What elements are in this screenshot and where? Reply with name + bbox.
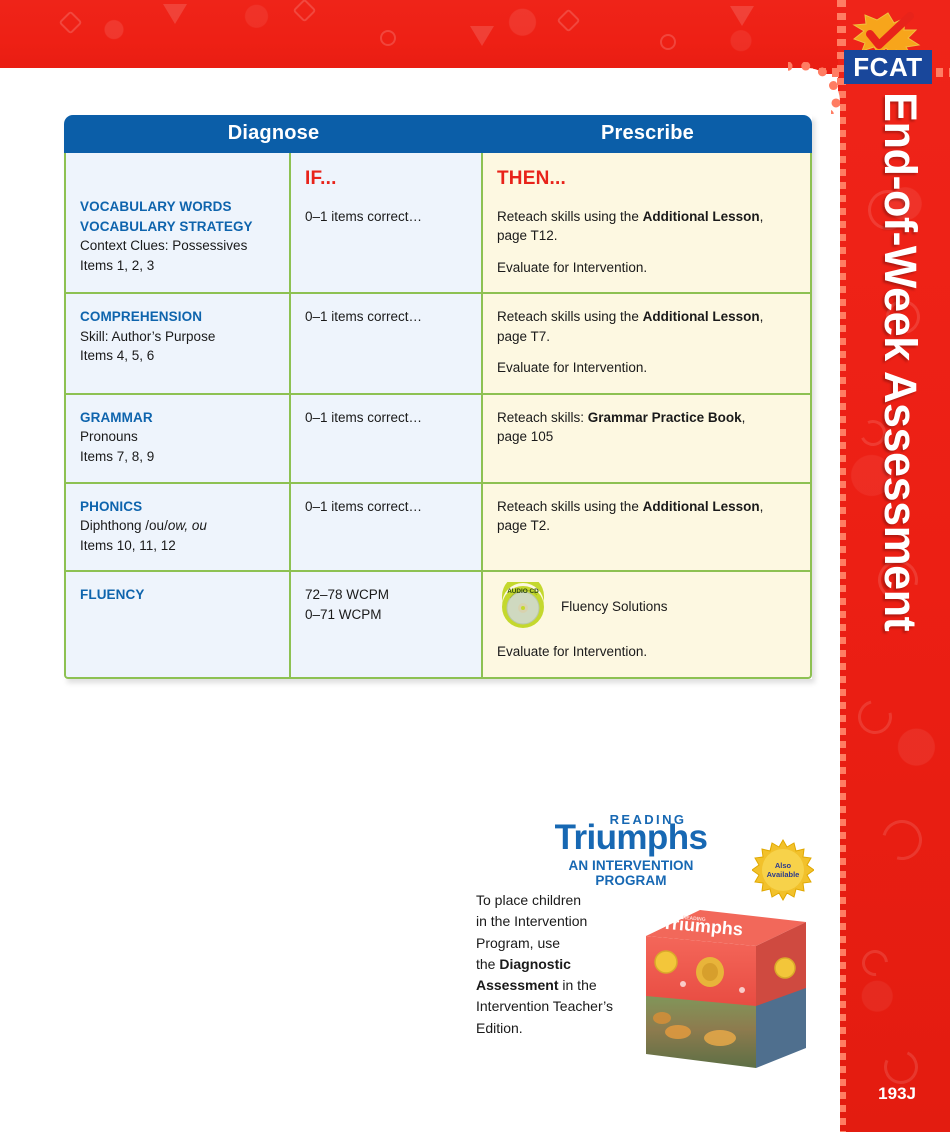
phonics-text: Diphthong /ou/ — [80, 518, 168, 533]
then-text-a: Reteach skills using the — [497, 309, 643, 324]
then-action: Reteach skills using the Additional Less… — [497, 307, 796, 346]
badge-text: Also Available — [752, 839, 814, 901]
then-evaluate: Evaluate for Intervention. — [497, 258, 796, 278]
row-then-cell: Reteach skills: Grammar Practice Book, p… — [483, 395, 812, 484]
row-if-cell: 0–1 items correct… — [291, 484, 483, 573]
then-resource: Additional Lesson — [643, 499, 760, 514]
column-header-diagnose: Diagnose — [64, 115, 483, 153]
skill-subtitle: Pronouns — [80, 427, 275, 447]
phonics-graphemes: ow, ou — [168, 518, 207, 533]
then-action: Reteach skills using the Additional Less… — [497, 207, 796, 246]
row-skill-cell: FLUENCY — [64, 572, 291, 679]
desc-line-5: Assessment in the — [476, 975, 641, 996]
spacer — [497, 346, 796, 358]
skill-title: VOCABULARY STRATEGY — [80, 217, 275, 237]
skill-title: COMPREHENSION — [80, 307, 275, 327]
skill-title: VOCABULARY WORDS — [80, 197, 275, 217]
if-condition: 0–1 items correct… — [305, 410, 422, 425]
skill-subtitle: Skill: Author’s Purpose — [80, 327, 275, 347]
desc-text-the: the — [476, 956, 499, 972]
then-resource: Additional Lesson — [643, 209, 760, 224]
audio-cd-label: AUDIO CD — [507, 588, 539, 595]
badge-line-2: Available — [767, 870, 800, 879]
if-condition: 0–1 items correct… — [305, 309, 422, 324]
swirl-decor-icon — [875, 813, 930, 868]
row-if-cell: 0–1 items correct… — [291, 395, 483, 484]
triumphs-product-box-image: Triumphs READING — [638, 896, 814, 1076]
if-condition-high: 72–78 WCPM — [305, 585, 467, 605]
row-skill-cell: VOCABULARY WORDS VOCABULARY STRATEGY Con… — [64, 153, 291, 294]
triumphs-wordmark: Triumphs — [536, 820, 726, 857]
row-skill-cell: COMPREHENSION Skill: Author’s Purpose It… — [64, 294, 291, 395]
skill-title: GRAMMAR — [80, 408, 275, 428]
skill-items: Items 1, 2, 3 — [80, 256, 275, 276]
sidebar-title-text: End-of-Week Assessment — [874, 92, 926, 631]
skill-items: Items 4, 5, 6 — [80, 346, 275, 366]
if-condition: 0–1 items correct… — [305, 499, 422, 514]
then-text-a: Reteach skills: — [497, 410, 588, 425]
spacer — [497, 630, 796, 642]
row-skill-cell: PHONICS Diphthong /ou/ow, ou Items 10, 1… — [64, 484, 291, 573]
triangle-decor-icon — [163, 4, 187, 24]
row-if-cell: 0–1 items correct… — [291, 294, 483, 395]
circle-decor-icon — [380, 30, 396, 46]
then-text-c: , — [760, 499, 764, 514]
then-text-c: , — [760, 309, 764, 324]
then-page: page 105 — [497, 427, 796, 447]
skill-items: Items 7, 8, 9 — [80, 447, 275, 467]
triumphs-logo: READING Triumphs AN INTERVENTION PROGRAM — [536, 812, 726, 888]
desc-line-7: Edition. — [476, 1018, 641, 1039]
swirl-decor-icon — [857, 945, 894, 982]
row-skill-cell: GRAMMAR Pronouns Items 7, 8, 9 — [64, 395, 291, 484]
then-evaluate: Evaluate for Intervention. — [497, 642, 796, 662]
then-label: THEN... — [497, 165, 796, 193]
desc-line-3: Program, use — [476, 933, 641, 954]
triangle-decor-icon — [730, 6, 754, 26]
swirl-decor-icon — [879, 1045, 923, 1089]
circle-decor-icon — [660, 34, 676, 50]
then-evaluate: Evaluate for Intervention. — [497, 358, 796, 378]
then-text-c: , — [760, 209, 764, 224]
sidebar-title: End-of-Week Assessment — [854, 92, 942, 752]
then-page: page T12. — [497, 226, 796, 246]
then-resource: Additional Lesson — [643, 309, 760, 324]
page-number: 193J — [878, 1084, 916, 1104]
audio-cd-icon: AUDIO CD — [497, 582, 549, 630]
skill-subtitle: Context Clues: Possessives — [80, 236, 275, 256]
desc-line-1: To place children — [476, 890, 641, 911]
then-action: Reteach skills: Grammar Practice Book, p… — [497, 408, 796, 447]
row-if-cell: 72–78 WCPM 0–71 WCPM — [291, 572, 483, 679]
diamond-decor-icon — [58, 10, 82, 34]
diagnose-prescribe-table: Diagnose Prescribe VOCABULARY WORDS VOCA… — [64, 115, 812, 679]
row-then-cell: Reteach skills using the Additional Less… — [483, 294, 812, 395]
fcat-logo-text: FCAT — [853, 52, 922, 83]
table-row: FLUENCY 72–78 WCPM 0–71 WCPM — [64, 572, 812, 679]
badge-line-1: Also — [775, 861, 791, 870]
column-header-prescribe: Prescribe — [483, 115, 812, 153]
if-condition-low: 0–71 WCPM — [305, 605, 467, 625]
row-then-cell: THEN... Reteach skills using the Additio… — [483, 153, 812, 294]
skill-title: FLUENCY — [80, 585, 275, 605]
also-available-badge: Also Available — [752, 839, 814, 901]
then-page: page T7. — [497, 327, 796, 347]
desc-bold-assessment: Assessment — [476, 977, 559, 993]
skill-subtitle: Diphthong /ou/ow, ou — [80, 516, 275, 536]
then-text-a: Reteach skills using the — [497, 499, 643, 514]
then-text-a: Reteach skills using the — [497, 209, 643, 224]
table-row: GRAMMAR Pronouns Items 7, 8, 9 0–1 items… — [64, 395, 812, 484]
then-resource: Grammar Practice Book — [588, 410, 742, 425]
desc-bold-diagnostic: Diagnostic — [499, 956, 571, 972]
skill-items: Items 10, 11, 12 — [80, 536, 275, 556]
diamond-decor-icon — [556, 8, 580, 32]
desc-line-4: the Diagnostic — [476, 954, 641, 975]
row-then-cell: Reteach skills using the Additional Less… — [483, 484, 812, 573]
if-label: IF... — [305, 165, 467, 193]
desc-line-2: in the Intervention — [476, 911, 641, 932]
then-text-c: , — [742, 410, 746, 425]
if-condition: 0–1 items correct… — [305, 209, 422, 224]
triangle-decor-icon — [470, 26, 494, 46]
triumphs-description: To place children in the Intervention Pr… — [476, 890, 641, 1039]
triumphs-subtitle: AN INTERVENTION PROGRAM — [536, 858, 726, 888]
top-red-banner — [0, 0, 950, 74]
fluency-solutions-row: AUDIO CD Fluency Solutions — [497, 582, 796, 630]
fcat-plate: FCAT — [844, 50, 932, 84]
table-header-row: Diagnose Prescribe — [64, 115, 812, 153]
banner-decorations — [0, 0, 950, 74]
row-if-cell: IF... 0–1 items correct… — [291, 153, 483, 294]
table-row: PHONICS Diphthong /ou/ow, ou Items 10, 1… — [64, 484, 812, 573]
table-row: COMPREHENSION Skill: Author’s Purpose It… — [64, 294, 812, 395]
desc-text-inthe: in the — [559, 977, 597, 993]
fcat-logo: FCAT — [844, 12, 932, 84]
then-action: Reteach skills using the Additional Less… — [497, 497, 796, 536]
skill-title: PHONICS — [80, 497, 275, 517]
table-row: VOCABULARY WORDS VOCABULARY STRATEGY Con… — [64, 153, 812, 294]
diamond-decor-icon — [292, 0, 316, 23]
then-page: page T2. — [497, 516, 796, 536]
spacer — [497, 246, 796, 258]
row-then-cell: AUDIO CD Fluency Solutions Evaluate for … — [483, 572, 812, 679]
fcat-starburst-icon — [852, 12, 924, 54]
desc-line-6: Intervention Teacher’s — [476, 996, 641, 1017]
page-root: FCAT End-of-Week Assessment 193J Diagnos… — [0, 0, 950, 1132]
fluency-solutions-label: Fluency Solutions — [561, 597, 668, 617]
